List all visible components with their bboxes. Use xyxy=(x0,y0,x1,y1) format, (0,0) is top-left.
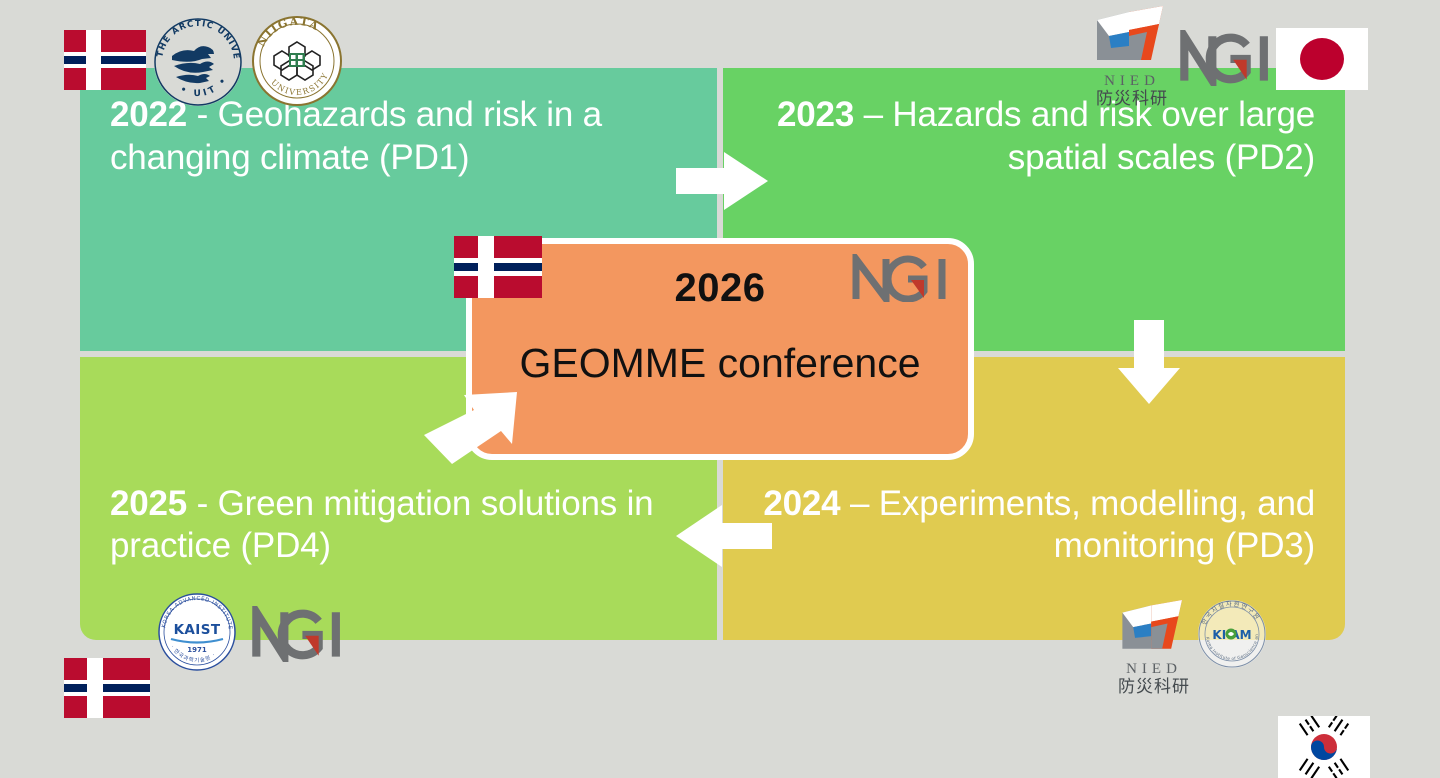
panel-2025-text: 2025 - Green mitigation solutions in pra… xyxy=(110,483,687,568)
panel-2024-description: Experiments, modelling, and monitoring (… xyxy=(879,484,1315,566)
svg-text:KAIST: KAIST xyxy=(174,622,221,638)
norway-flag-icon xyxy=(64,30,146,90)
nied-label-en: NIED xyxy=(1080,74,1184,89)
svg-text:1971: 1971 xyxy=(187,646,207,654)
niigata-university-icon: NIIGATA UNIVERSITY xyxy=(252,16,342,106)
panel-2024-separator: – xyxy=(850,484,869,523)
center-card-title: GEOMME conference xyxy=(472,340,968,387)
ngi-icon xyxy=(850,254,954,302)
panel-2025-description: Green mitigation solutions in practice (… xyxy=(110,484,653,566)
center-card-geomme-conference[interactable]: 2026 GEOMME conference xyxy=(466,238,974,460)
panel-2025-separator: - xyxy=(197,484,208,523)
arrow-diagonal-up-right-icon xyxy=(424,392,520,468)
norway-flag-icon xyxy=(64,658,150,718)
ngi-icon xyxy=(1178,30,1272,86)
panel-2023-separator: – xyxy=(864,95,883,134)
panel-2023-text: 2023 – Hazards and risk over large spati… xyxy=(753,94,1315,179)
arrow-left-icon xyxy=(676,505,772,567)
nied-logo: NIED 防災科研 xyxy=(1104,600,1204,696)
nied-icon xyxy=(1089,6,1175,68)
japan-flag-icon xyxy=(1276,28,1368,90)
panel-2023-year: 2023 xyxy=(777,95,854,134)
nied-icon xyxy=(1114,600,1194,656)
norway-flag-icon xyxy=(454,236,542,298)
kigam-logo-icon: 한국지질자원연구원 Korea Institute of Geoscience … xyxy=(1196,598,1268,670)
south-korea-flag-icon xyxy=(1278,716,1370,778)
arrow-down-icon xyxy=(1118,320,1180,404)
nied-logo: NIED 防災科研 xyxy=(1080,6,1184,108)
kaist-logo-icon: KOREA ADVANCED INSTITUTE OF SCIENCE AND … xyxy=(157,592,237,672)
panel-2024-text: 2024 – Experiments, modelling, and monit… xyxy=(753,483,1315,568)
uit-arctic-university-icon: THE ARCTIC UNIVERSITY OF NORWAY • UIT • xyxy=(152,16,244,108)
panel-2024-year: 2024 xyxy=(763,484,840,523)
nied-label-jp: 防災科研 xyxy=(1080,91,1184,108)
arrow-right-icon xyxy=(676,152,768,210)
nied-label-jp: 防災科研 xyxy=(1104,679,1204,696)
slide-canvas: 2022 - Geohazards and risk in a changing… xyxy=(0,0,1440,696)
ngi-icon xyxy=(250,606,344,662)
panel-2025-year: 2025 xyxy=(110,484,187,523)
nied-label-en: NIED xyxy=(1104,662,1204,677)
